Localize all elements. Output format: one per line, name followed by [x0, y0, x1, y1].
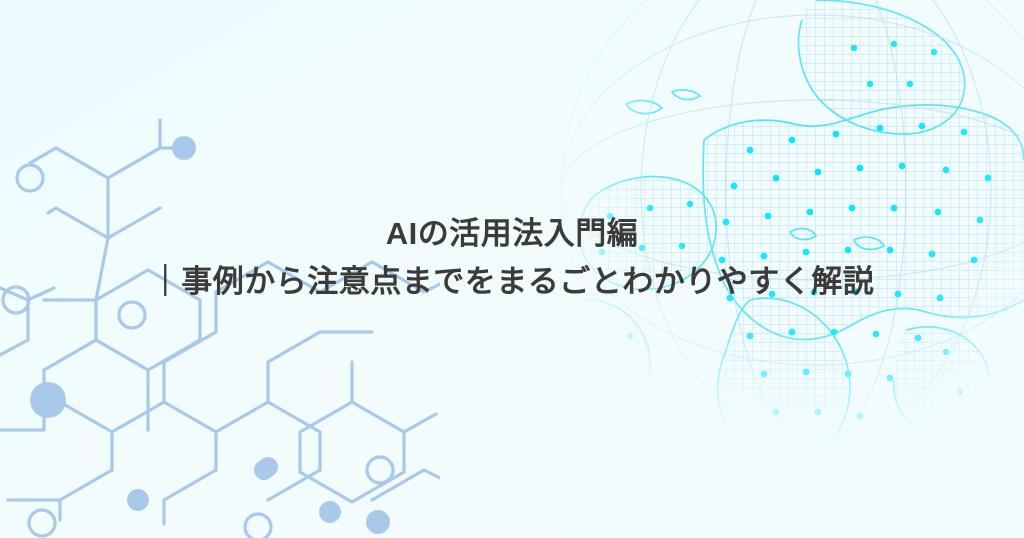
banner-title: AIの活用法入門編 ｜事例から注意点までをまるごとわかりやすく解説: [0, 214, 1024, 303]
title-line-secondary: ｜事例から注意点までをまるごとわかりやすく解説: [0, 262, 1024, 302]
title-line-primary: AIの活用法入門編: [0, 214, 1024, 254]
article-header-banner: AIの活用法入門編 ｜事例から注意点までをまるごとわかりやすく解説: [0, 0, 1024, 538]
molecule-bonds: [0, 120, 440, 524]
